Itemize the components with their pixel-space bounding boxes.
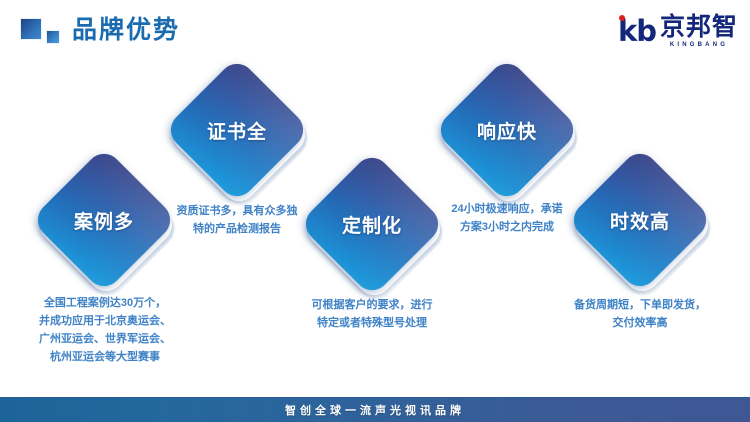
logo-mark-kb: kb bbox=[618, 16, 656, 46]
diamond-shape-5[interactable]: 时效高 bbox=[588, 168, 692, 272]
logo-name-group: 京邦智 KINGBANG bbox=[660, 15, 738, 48]
slide-canvas: 品牌优势 kb 京邦智 KINGBANG 案例多 全国工程案例达30万个， 并成… bbox=[0, 0, 750, 422]
logo-name-en: KINGBANG bbox=[660, 42, 738, 48]
advantage-desc-3: 可根据客户的要求，进行 特定或者特殊型号处理 bbox=[282, 296, 462, 332]
diamond-label-5: 时效高 bbox=[588, 168, 692, 272]
diamond-label-4: 响应快 bbox=[455, 78, 559, 182]
diamond-shape-2[interactable]: 证书全 bbox=[185, 78, 289, 182]
logo-red-dot-icon bbox=[619, 15, 625, 21]
brand-logo: kb 京邦智 KINGBANG bbox=[618, 14, 738, 48]
footer-bar: 智创全球一流声光视讯品牌 bbox=[0, 397, 750, 422]
diamond-shape-3[interactable]: 定制化 bbox=[320, 172, 424, 276]
advantage-desc-5: 备货周期短，下单即发货， 交付效率高 bbox=[550, 296, 730, 332]
advantage-desc-1: 全国工程案例达30万个， 并成功应用于北京奥运会、 广州亚运会、世界军运会、 杭… bbox=[10, 294, 200, 366]
advantage-desc-4: 24小时极速响应，承诺 方案3小时之内完成 bbox=[417, 200, 597, 236]
decorative-square-small bbox=[46, 30, 60, 44]
footer-slogan: 智创全球一流声光视讯品牌 bbox=[285, 402, 465, 418]
diamond-shape-1[interactable]: 案例多 bbox=[52, 168, 156, 272]
page-title: 品牌优势 bbox=[72, 14, 180, 46]
header-decoration bbox=[20, 18, 64, 46]
advantage-desc-2: 资质证书多，具有众多独 特的产品检测报告 bbox=[147, 202, 327, 238]
diamond-shape-4[interactable]: 响应快 bbox=[455, 78, 559, 182]
diamond-label-2: 证书全 bbox=[185, 78, 289, 182]
decorative-square-large bbox=[20, 18, 42, 40]
logo-name-cn: 京邦智 bbox=[660, 15, 738, 40]
diamond-label-1: 案例多 bbox=[52, 168, 156, 272]
diamond-label-3: 定制化 bbox=[320, 172, 424, 276]
